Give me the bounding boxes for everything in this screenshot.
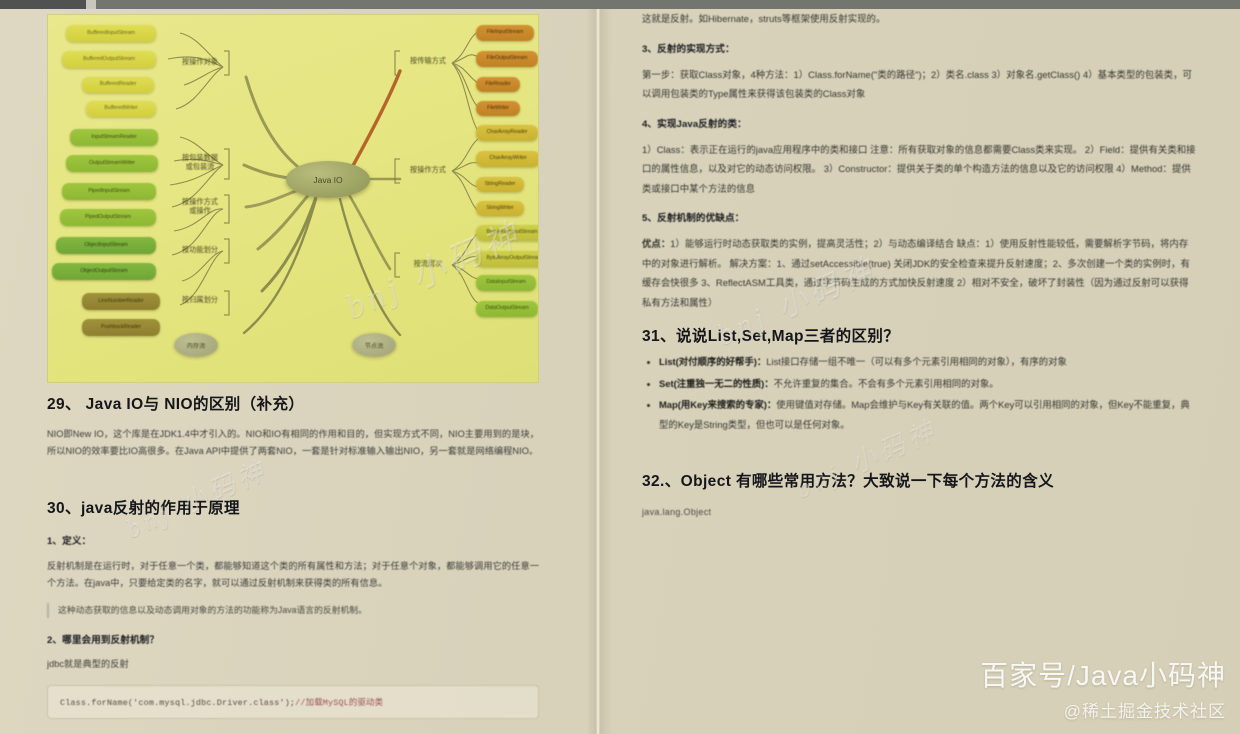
heading-section-31: 31、说说List,Set,Map三者的区别？	[642, 324, 1197, 346]
paragraph-3: 第一步：获取Class对象，4种方法：1）Class.forName("类的路径…	[642, 65, 1197, 104]
mindmap-branch-right-0: 按传输方式	[406, 56, 450, 65]
mindmap-chip-left-1: BufferedOutputStream	[62, 51, 156, 68]
mindmap-branch-right-2: 按流层次	[406, 259, 450, 268]
heading-section-29: 29、 Java IO与 NIO的区别（补充）	[47, 392, 539, 414]
right-page-column: 这就是反射。如Hibernate，struts等框架使用反射实现的。 3、反射的…	[600, 9, 1240, 734]
mindmap-chip-left-11: PushbackReader	[82, 319, 160, 336]
paragraph-5-lead: 优点：	[642, 238, 670, 249]
paragraph-5: 优点：1）能够运行时动态获取类的实例，提高灵活性；2）与动态编译结合 缺点：1）…	[642, 234, 1197, 312]
subheading-5: 5、反射机制的优缺点：	[642, 210, 1197, 224]
paragraph-30-2: jdbc就是典型的反射	[47, 656, 539, 673]
top-band-left	[0, 0, 86, 9]
mindmap-chip-left-10: LineNumberReader	[82, 293, 160, 310]
mindmap-leaf-node-0: 内存流	[174, 333, 218, 357]
list-item: Map(用Key来搜索的专家)：使用键值对存储。Map会维护与Key有关联的值。…	[659, 395, 1197, 434]
top-band-notch	[86, 0, 96, 9]
top-band-right	[96, 0, 1240, 9]
subheading-30-2: 2、哪里会用到反射机制？	[47, 632, 539, 646]
bullet-31-2-strong: Map(用Key来搜索的专家)：	[659, 399, 776, 410]
code-block-30: Class.forName('com.mysql.jdbc.Driver.cla…	[47, 685, 539, 719]
mindmap-chip-right-2: FileReader	[476, 77, 520, 92]
mindmap-branch-left-4: 按归属划分	[176, 295, 224, 304]
mindmap-chip-left-0: BufferedInputStream	[66, 25, 156, 42]
mindmap-chip-left-5: OutputStreamWriter	[66, 155, 158, 172]
paragraph-4: 1）Class：表示正在运行的java应用程序中的类和接口 注意：所有获取对象的…	[642, 140, 1197, 199]
mindmap-branch-left-0: 按操作对象	[176, 57, 224, 66]
list-item: Set(注重独一无二的性质)：不允许重复的集合。不会有多个元素引用相同的对象。	[659, 374, 1197, 394]
bullet-31-1-text: 不允许重复的集合。不会有多个元素引用相同的对象。	[774, 378, 999, 389]
mindmap-chip-right-0: FileInputStream	[476, 25, 534, 41]
mindmap-chip-right-4: CharArrayReader	[476, 125, 538, 141]
mindmap-chip-right-3: FileWriter	[476, 101, 520, 116]
paragraph-30-1: 反射机制是在运行时，对于任意一个类，都能够知道这个类的所有属性和方法；对于任意个…	[47, 558, 539, 591]
paragraph-section-32: java.lang.Object	[642, 507, 1197, 517]
scanned-page: Java IO 按传输方式 按操作方式 按流层次 按操作对象 按包装数据 或包装…	[0, 0, 1240, 734]
top-edge-band	[0, 0, 1240, 9]
bullet-list-31: List(对付顺序的好帮手)：List接口存储一组不唯一（可以有多个元素引用相同…	[642, 352, 1197, 434]
mindmap-chip-right-10: DataInputStream	[476, 275, 536, 291]
bullet-31-0-text: List接口存储一组不唯一（可以有多个元素引用相同的对象），有序的对象	[766, 356, 1067, 367]
mindmap-chip-right-9: ByteArrayOutputStream	[476, 251, 539, 267]
mindmap-chip-left-6: PipedInputStream	[62, 183, 156, 200]
mindmap-branch-right-1: 按操作方式	[406, 165, 450, 174]
mindmap-chip-left-7: PipedOutputStream	[60, 209, 156, 226]
list-item: List(对付顺序的好帮手)：List接口存储一组不唯一（可以有多个元素引用相同…	[659, 352, 1197, 372]
mindmap-center-node: Java IO	[286, 161, 370, 198]
paragraph-section-29: NIO即New IO，这个库是在JDK1.4中才引入的。NIO和IO有相同的作用…	[47, 426, 539, 459]
mindmap-chip-right-11: DataOutputStream	[476, 301, 538, 317]
code-comment: //加载MySQL的驱动类	[295, 698, 383, 708]
quote-30: 这种动态获取的信息以及动态调用对象的方法的功能称为Java语言的反射机制。	[47, 603, 539, 618]
heading-section-32: 32.、Object 有哪些常用方法？大致说一下每个方法的含义	[642, 469, 1197, 491]
mindmap-chip-left-8: ObjectInputStream	[56, 237, 156, 254]
mindmap-chip-right-5: CharArrayWriter	[476, 151, 539, 167]
subheading-30-1: 1、定义：	[47, 533, 539, 547]
mindmap-branch-left-3: 按功能划分	[176, 245, 224, 254]
mindmap-center-label: Java IO	[313, 175, 342, 185]
mindmap-branch-left-1: 按包装数据 或包装流	[176, 153, 224, 171]
heading-section-30: 30、java反射的作用于原理	[47, 496, 539, 518]
mindmap-chip-left-9: ObjectOutputStream	[52, 263, 156, 280]
mindmap-branch-left-2: 按操作方式 或操作	[176, 197, 224, 215]
mindmap-chip-left-4: InputStreamReader	[70, 129, 158, 146]
mindmap-leaf-node-1: 节点流	[352, 333, 396, 357]
mindmap-chip-right-6: StringReader	[476, 177, 524, 192]
mindmap-chip-left-3: BufferedWriter	[86, 101, 156, 117]
left-page-column: Java IO 按传输方式 按操作方式 按流层次 按操作对象 按包装数据 或包装…	[0, 9, 596, 734]
mindmap-chip-right-7: StringWriter	[476, 201, 524, 216]
mindmap-chip-right-1: FileOutputStream	[476, 51, 538, 67]
paragraph-5-text: 1）能够运行时动态获取类的实例，提高灵活性；2）与动态编译结合 缺点：1）使用反…	[642, 238, 1190, 308]
subheading-4: 4、实现Java反射的类：	[642, 116, 1197, 130]
mindmap-chip-right-8: ByteArrayInputStream	[476, 225, 539, 241]
paragraph-intro-right: 这就是反射。如Hibernate，struts等框架使用反射实现的。	[642, 9, 1197, 29]
subheading-3: 3、反射的实现方式：	[642, 41, 1197, 55]
java-io-mindmap: Java IO 按传输方式 按操作方式 按流层次 按操作对象 按包装数据 或包装…	[47, 14, 539, 383]
mindmap-chip-left-2: BufferedReader	[82, 77, 154, 93]
code-text: Class.forName('com.mysql.jdbc.Driver.cla…	[60, 698, 295, 708]
bullet-31-1-strong: Set(注重独一无二的性质)：	[659, 378, 774, 389]
bullet-31-0-strong: List(对付顺序的好帮手)：	[659, 356, 766, 367]
